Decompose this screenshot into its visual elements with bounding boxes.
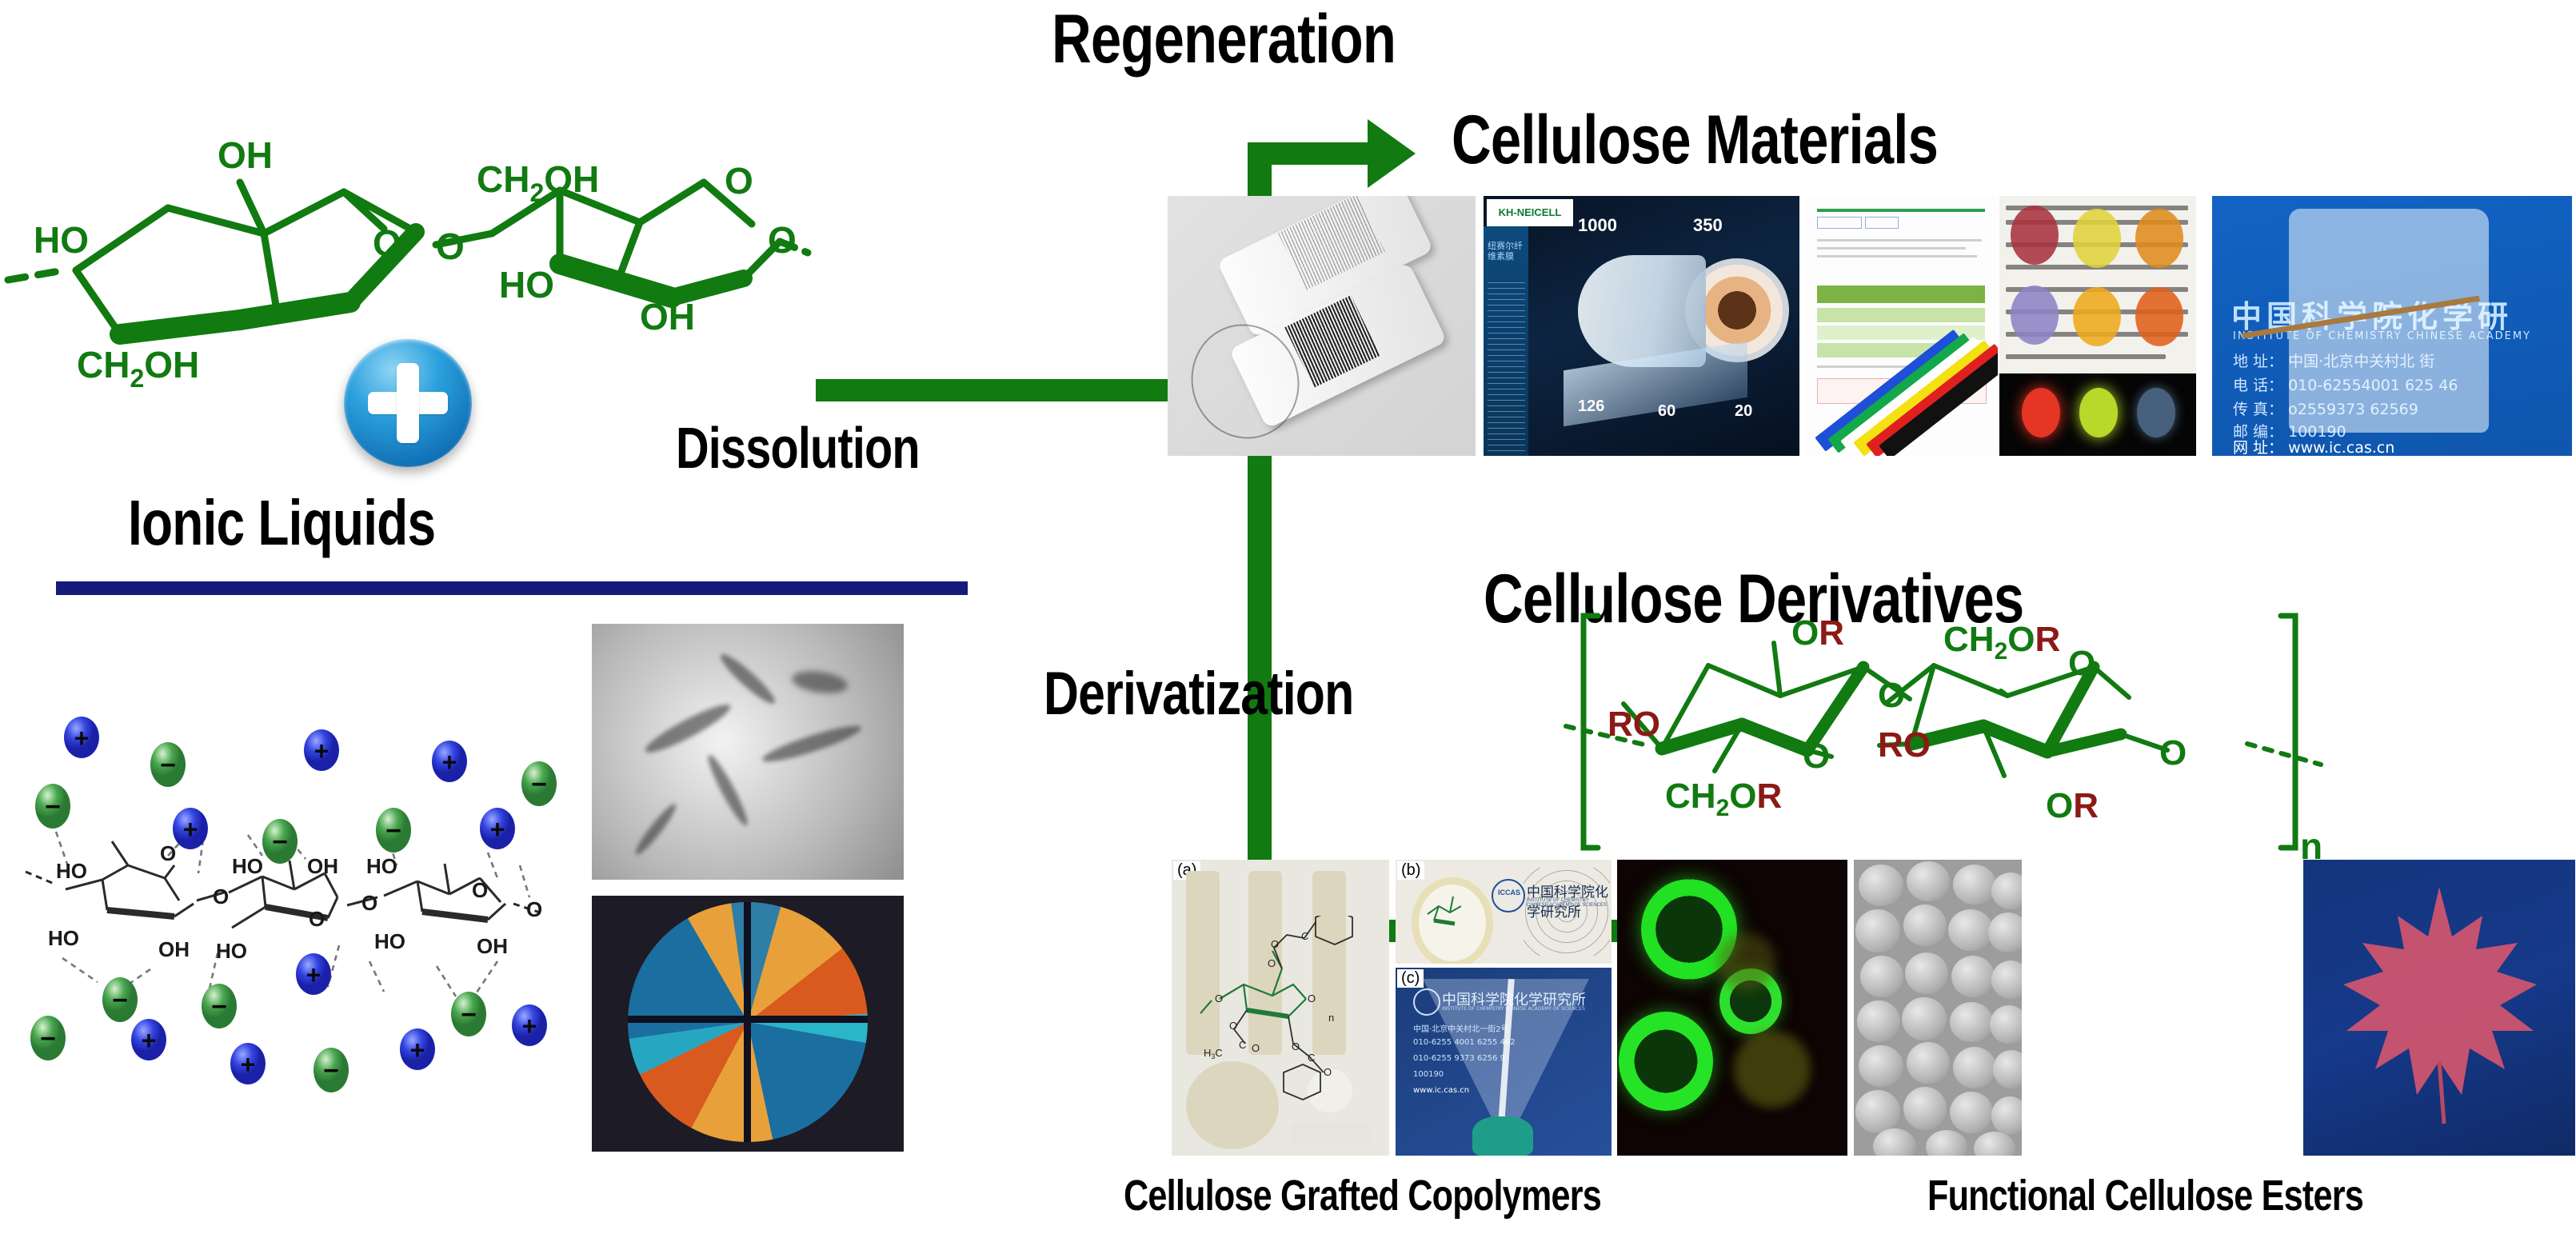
photo-tem-micrograph [592, 624, 904, 880]
cation-sign: + [74, 724, 90, 753]
photo-iccas-blue-card: 中国科学院化学研 INSTITUTE OF CHEMISTRY CHINESE … [2212, 196, 2572, 456]
il-mol-label-ho-5: HO [366, 854, 397, 878]
svg-text:O: O [1271, 938, 1279, 950]
deriv-label-ch2or-1: CH2OR [1665, 777, 1782, 821]
il-mol-label-o-3: O [309, 907, 325, 931]
cation-sign: + [410, 1036, 425, 1064]
photo-fluorescent-green-microspheres [1617, 860, 1847, 1156]
il-mol-label-ho-2: HO [48, 926, 79, 950]
anion-sign: − [385, 816, 401, 846]
svg-text:O: O [1229, 1020, 1237, 1032]
poster-number-60: 60 [1658, 402, 1675, 421]
panel-label-c: (c) [1397, 969, 1424, 988]
photo-cellulose-ring-and-fibers: (b) ICCAS 中国科学院化学研究所 INSTITUTE OF CHEMIS… [1396, 860, 1611, 964]
svg-text:O: O [1324, 1066, 1332, 1078]
photo-polarized-light-micrograph [592, 896, 904, 1152]
il-mol-label-ho-3: HO [232, 854, 263, 878]
heading-cellulose-materials: Cellulose Materials [1452, 106, 1938, 174]
anion-sign: − [531, 769, 547, 800]
svg-text:n: n [1328, 1012, 1334, 1024]
cation-sign: + [183, 815, 198, 844]
ionic-liquids-underline [56, 581, 968, 595]
caption-cellulose-grafted-copolymers: Cellulose Grafted Copolymers [1124, 1174, 1601, 1217]
cation-sign: + [490, 815, 505, 844]
photo-fluorescent-discs [1999, 373, 2196, 456]
poster-number-350: 350 [1693, 215, 1723, 236]
caption-functional-cellulose-esters: Functional Cellulose Esters [1927, 1174, 2363, 1217]
poster-number-126: 126 [1578, 397, 1604, 416]
anion-sign: − [461, 1000, 477, 1030]
arrow-head-regeneration-icon [1368, 119, 1416, 188]
svg-text:O: O [1215, 992, 1223, 1004]
cation-sign: + [442, 748, 457, 777]
mol-label-ho-2: HO [499, 264, 554, 306]
photo-red-maple-leaf [2303, 860, 2575, 1156]
il-mol-label-o-6: O [526, 897, 542, 921]
svg-text:O: O [1268, 957, 1276, 969]
il-mol-label-o-4: O [361, 891, 377, 915]
card-line-website: 网 址： www.ic.cas.cn [2233, 436, 2394, 456]
arrow-regeneration-bar [1248, 142, 1372, 165]
poster-number-1000: 1000 [1578, 215, 1617, 236]
il-mol-label-oh-1: OH [158, 937, 190, 961]
il-mol-label-ho-6: HO [374, 929, 405, 953]
cation-sign: + [142, 1026, 157, 1055]
label-regeneration: Regeneration [1052, 5, 1396, 74]
deriv-label-o-glyco: O [1878, 676, 1905, 715]
anion-sign: − [211, 992, 227, 1022]
deriv-label-ro-1: RO [1608, 705, 1660, 744]
label-derivatization: Derivatization [1044, 664, 1353, 725]
svg-text:O: O [1308, 992, 1316, 1004]
photo-transparent-cellulose-film-funnel: (c) 中国科学院化学研究所 INSTITUTE OF CHEMISTRY CH… [1396, 968, 1611, 1156]
cation-sign: + [522, 1012, 537, 1040]
brand-kh-neicell: KH-NEICELL [1487, 199, 1573, 226]
il-mol-label-oh-3: OH [477, 934, 508, 958]
mol-label-o-glyco: O [436, 226, 465, 267]
deriv-label-ch2or-2: CH2OR [1943, 620, 2060, 665]
il-mol-label-o-1: O [160, 841, 176, 865]
anion-sign: − [45, 792, 61, 822]
mol-label-o-ring1: O [373, 222, 401, 264]
panel-label-b: (b) [1397, 861, 1424, 880]
photo-porphyrin-cop-discs [1999, 196, 2196, 373]
anion-sign: − [112, 985, 128, 1016]
svg-text:C: C [1301, 930, 1308, 942]
deriv-label-or-2: OR [2046, 786, 2099, 825]
mol-label-oh-2: OH [640, 296, 695, 337]
anion-sign: − [323, 1056, 339, 1086]
cation-sign: + [241, 1050, 256, 1079]
mol-label-o-end: O [768, 219, 797, 261]
plus-icon [344, 339, 472, 467]
il-mol-label-ho-1: HO [56, 859, 87, 883]
svg-text:O: O [1252, 1042, 1260, 1054]
cation-sign: + [314, 737, 329, 765]
deriv-label-o-ring2: O [2068, 644, 2095, 683]
photo-cellulose-fiber-bobbins [1168, 196, 1476, 456]
poster-sidebar: 纽赛尔纤维素膜 [1484, 226, 1528, 456]
il-mol-label-o-2: O [213, 885, 229, 909]
il-mol-label-oh-2: OH [307, 854, 338, 878]
mol-label-ch2oh-1: CH2OH [77, 344, 199, 393]
photo-cellulose-ester-dogbone-specimens: (a) OCO OO OCO OCO H3C n [1172, 860, 1389, 1156]
deriv-label-o-end: O [2159, 733, 2187, 773]
cation-sign: + [306, 960, 322, 989]
il-mol-label-ho-4: HO [216, 939, 247, 963]
photo-chinese-technical-document [1806, 196, 1998, 456]
mol-label-ch2oh-2: CH2OH [477, 158, 599, 207]
svg-text:C: C [1239, 1039, 1246, 1051]
anion-sign: − [272, 827, 288, 857]
photo-cellulose-film-roll-poster: KH-NEICELL 纽赛尔纤维素膜 1000 350 126 60 20 [1484, 196, 1799, 456]
deriv-label-or-1: OR [1791, 613, 1844, 653]
poster-number-20: 20 [1735, 402, 1752, 421]
heading-ionic-liquids: Ionic Liquids [128, 491, 435, 555]
svg-text:O: O [1292, 1040, 1300, 1052]
anion-sign: − [40, 1024, 56, 1054]
svg-text:H3C: H3C [1204, 1047, 1223, 1060]
deriv-label-o-ring1: O [1803, 737, 1830, 776]
il-mol-label-o-5: O [472, 878, 488, 902]
deriv-label-ro-2: RO [1878, 725, 1931, 765]
cellulose-derivative-repeat-unit-structure: RO OR CH2OR O O CH2OR O RO OR O n [1560, 608, 2343, 872]
photo-sem-cellulose-microspheres [1854, 860, 2022, 1156]
mol-label-oh-1: OH [218, 134, 273, 176]
ionic-liquid-cellulose-interaction-scheme: HO O HO OH O HO OH HO O O HO O HO OH O +… [8, 664, 568, 1112]
svg-text:C: C [1308, 1052, 1315, 1064]
mol-label-ho-1: HO [34, 219, 89, 261]
iccas-badge-label: ICCAS [1498, 889, 1520, 897]
mol-label-o-ring2: O [725, 160, 753, 202]
anion-sign: − [160, 750, 176, 781]
